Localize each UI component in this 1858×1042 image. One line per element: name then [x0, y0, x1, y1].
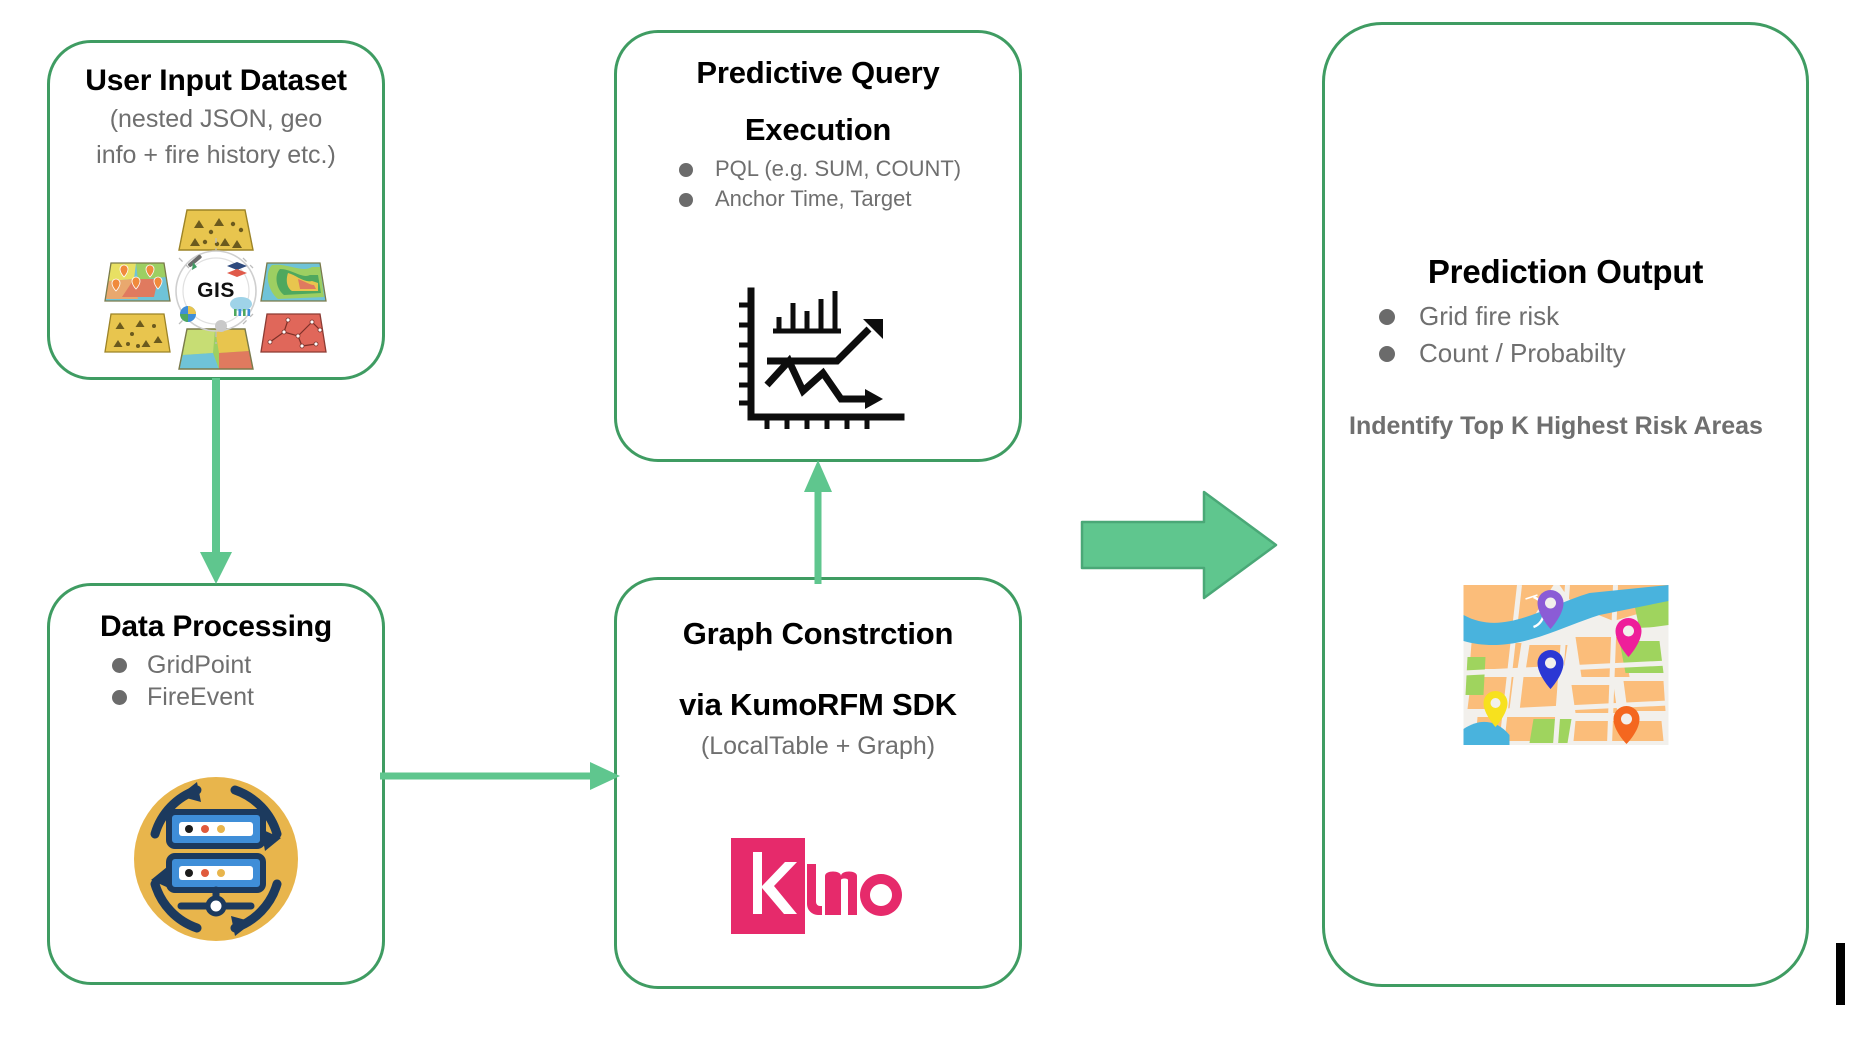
bullet-label: GridPoint	[147, 650, 382, 680]
arrow-processing-to-graph	[380, 755, 624, 797]
arrow-input-to-processing	[190, 378, 242, 588]
box-output-note: Indentify Top K Highest Risk Areas	[1349, 411, 1806, 442]
box-data-processing[interactable]: Data Processing GridPoint FireEvent	[47, 583, 385, 985]
bullet-label: Count / Probabilty	[1419, 338, 1806, 369]
diagram-canvas: User Input Dataset (nested JSON, geo inf…	[0, 0, 1858, 1042]
list-item: Count / Probabilty	[1379, 338, 1806, 369]
kumo-logo	[729, 836, 907, 936]
bullet-label: FireEvent	[147, 682, 382, 712]
box-output-title: Prediction Output	[1325, 253, 1806, 291]
bullet-label: PQL (e.g. SUM, COUNT)	[715, 156, 1019, 182]
gis-hub-icon: GIS	[163, 238, 269, 344]
box-prediction-output[interactable]: Prediction Output Grid fire risk Count /…	[1322, 22, 1809, 987]
bullet-dot-icon	[1379, 346, 1395, 362]
box-predictive-query-execution[interactable]: Predictive Query Execution PQL (e.g. SUM…	[614, 30, 1022, 462]
city-map-pins-icon	[1463, 585, 1668, 745]
gis-layers-icon: GIS	[102, 208, 330, 373]
box-user-input-subtitle-line1: (nested JSON, geo	[50, 104, 382, 134]
data-processing-bullet-list: GridPoint FireEvent	[112, 650, 382, 712]
box-graph-title-line1: Graph Constrction	[617, 616, 1019, 651]
box-user-input-dataset[interactable]: User Input Dataset (nested JSON, geo inf…	[47, 40, 385, 380]
bullet-dot-icon	[1379, 309, 1395, 325]
list-item: Anchor Time, Target	[679, 186, 1019, 212]
gis-hub-label: GIS	[197, 279, 235, 303]
list-item: Grid fire risk	[1379, 301, 1806, 332]
bullet-dot-icon	[679, 163, 693, 177]
database-sync-icon	[121, 764, 311, 954]
list-item: GridPoint	[112, 650, 382, 680]
bullet-label: Anchor Time, Target	[715, 186, 1019, 212]
bullet-label: Grid fire risk	[1419, 301, 1806, 332]
box-query-title-line2: Execution	[617, 112, 1019, 147]
box-data-processing-title: Data Processing	[50, 610, 382, 644]
box-user-input-title: User Input Dataset	[50, 64, 382, 98]
bullet-dot-icon	[679, 193, 693, 207]
bullet-dot-icon	[112, 690, 127, 705]
box-graph-title-line2: via KumoRFM SDK	[617, 687, 1019, 722]
box-graph-construction[interactable]: Graph Constrction via KumoRFM SDK (Local…	[614, 577, 1022, 989]
box-user-input-subtitle-line2: info + fire history etc.)	[50, 140, 382, 170]
list-item: FireEvent	[112, 682, 382, 712]
list-item: PQL (e.g. SUM, COUNT)	[679, 156, 1019, 182]
bullet-dot-icon	[112, 658, 127, 673]
analytics-chart-icon	[729, 285, 907, 435]
output-bullet-list: Grid fire risk Count / Probabilty	[1379, 301, 1806, 369]
arrow-graph-to-query	[797, 458, 839, 584]
arrow-big-right	[1080, 490, 1280, 600]
box-graph-subtitle: (LocalTable + Graph)	[617, 731, 1019, 761]
text-caret	[1836, 943, 1845, 1005]
query-bullet-list: PQL (e.g. SUM, COUNT) Anchor Time, Targe…	[679, 156, 1019, 213]
box-query-title-line1: Predictive Query	[617, 55, 1019, 90]
